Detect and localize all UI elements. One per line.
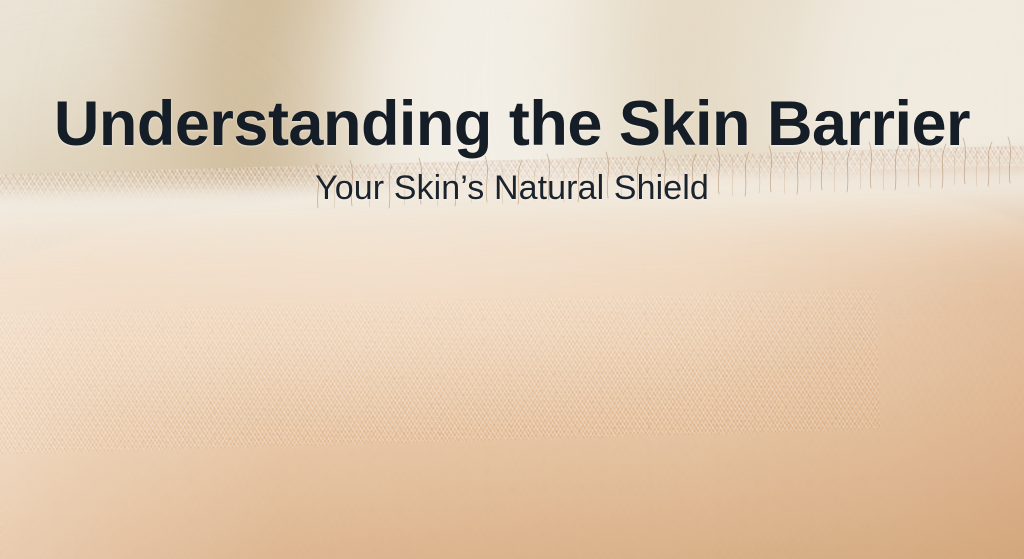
hero-text-block: Understanding the Skin Barrier Your Skin… [0,92,1024,208]
page-subtitle: Your Skin’s Natural Shield [0,170,1024,207]
skin-macro-photo [0,165,1024,559]
hero-banner: Understanding the Skin Barrier Your Skin… [0,0,1024,559]
page-title: Understanding the Skin Barrier [0,92,1024,156]
